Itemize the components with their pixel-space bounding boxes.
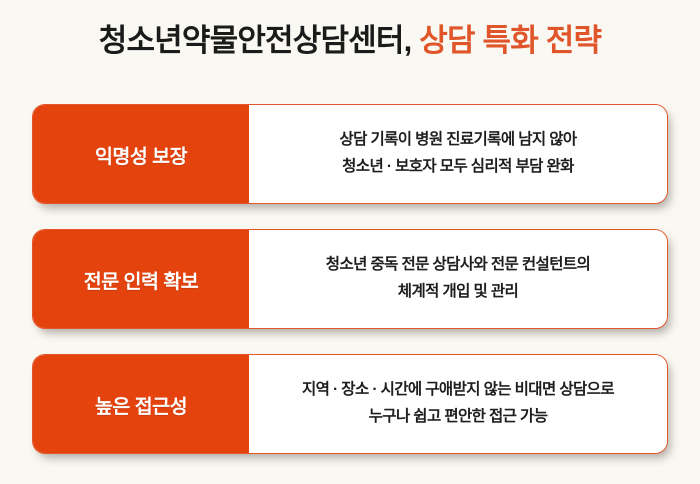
strategy-card-body-line: 체계적 개입 및 관리 (398, 279, 518, 306)
strategy-card-body: 지역 · 장소 · 시간에 구애받지 않는 비대면 상담으로 누구나 쉽고 편안… (249, 355, 667, 453)
strategy-card-body-line: 청소년 중독 전문 상담사와 전문 컨설턴트의 (326, 252, 590, 279)
strategy-card-body-line: 지역 · 장소 · 시간에 구애받지 않는 비대면 상담으로 (302, 377, 614, 404)
strategy-card-body-line: 누구나 쉽고 편안한 접근 가능 (369, 404, 548, 431)
strategy-card: 익명성 보장 상담 기록이 병원 진료기록에 남지 않아 청소년 · 보호자 모… (32, 104, 668, 204)
page-title-accent: 상담 특화 전략 (419, 23, 601, 58)
strategy-card-body-line: 상담 기록이 병원 진료기록에 남지 않아 (339, 127, 576, 154)
strategy-card: 높은 접근성 지역 · 장소 · 시간에 구애받지 않는 비대면 상담으로 누구… (32, 354, 668, 454)
strategy-card: 전문 인력 확보 청소년 중독 전문 상담사와 전문 컨설턴트의 체계적 개입 … (32, 229, 668, 329)
page-title-primary: 청소년약물안전상담센터, (99, 23, 412, 58)
strategy-card-list: 익명성 보장 상담 기록이 병원 진료기록에 남지 않아 청소년 · 보호자 모… (32, 104, 668, 479)
strategy-card-body: 청소년 중독 전문 상담사와 전문 컨설턴트의 체계적 개입 및 관리 (249, 230, 667, 328)
strategy-card-body-line: 청소년 · 보호자 모두 심리적 부담 완화 (342, 154, 574, 181)
strategy-card-label: 전문 인력 확보 (33, 230, 249, 328)
strategy-card-label: 익명성 보장 (33, 105, 249, 203)
strategy-card-body: 상담 기록이 병원 진료기록에 남지 않아 청소년 · 보호자 모두 심리적 부… (249, 105, 667, 203)
page-title: 청소년약물안전상담센터, 상담 특화 전략 (0, 22, 700, 59)
strategy-card-label: 높은 접근성 (33, 355, 249, 453)
